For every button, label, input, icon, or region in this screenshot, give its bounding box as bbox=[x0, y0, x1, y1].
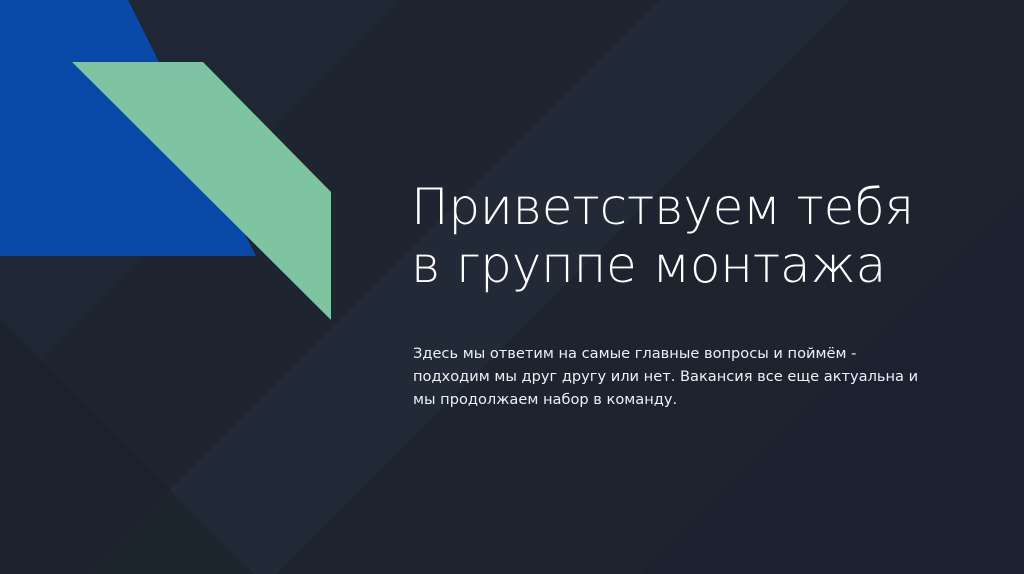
decorative-shapes bbox=[0, 0, 380, 360]
slide-body-text: Здесь мы ответим на самые главные вопрос… bbox=[413, 343, 925, 412]
presentation-slide: Приветствуем тебя в группе монтажа Здесь… bbox=[0, 0, 1024, 574]
slide-content: Приветствуем тебя в группе монтажа Здесь… bbox=[411, 0, 951, 574]
slide-title: Приветствуем тебя в группе монтажа bbox=[411, 178, 951, 294]
